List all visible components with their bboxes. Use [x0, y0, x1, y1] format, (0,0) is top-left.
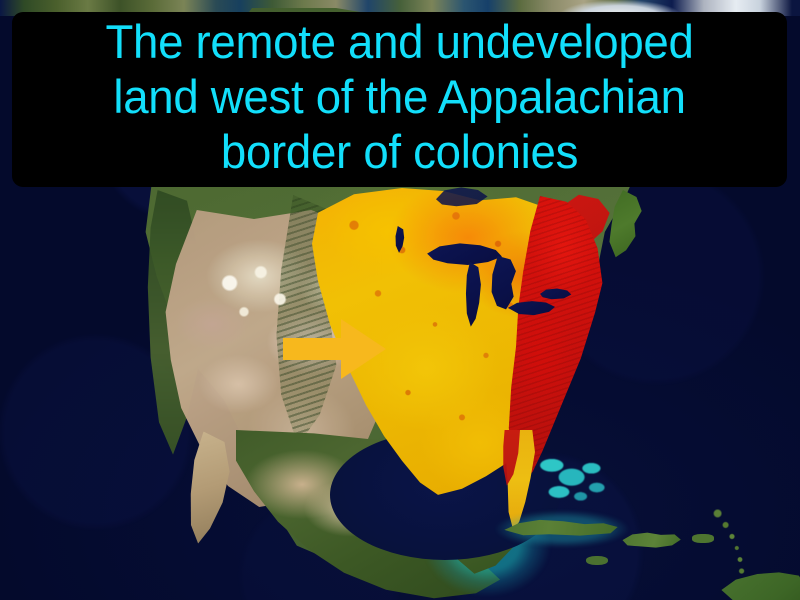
definition-card-image: The remote and undeveloped land west of … — [0, 0, 800, 600]
caption-line-3: border of colonies — [37, 124, 762, 179]
bahamas-islands — [532, 452, 622, 526]
definition-caption-text: The remote and undeveloped land west of … — [37, 14, 762, 179]
caption-line-2: land west of the Appalachian — [37, 69, 762, 124]
caption-line-1: The remote and undeveloped — [37, 14, 762, 69]
pointer-arrow-icon — [283, 319, 386, 379]
jamaica-island — [586, 556, 608, 565]
definition-caption-card: The remote and undeveloped land west of … — [12, 12, 787, 187]
